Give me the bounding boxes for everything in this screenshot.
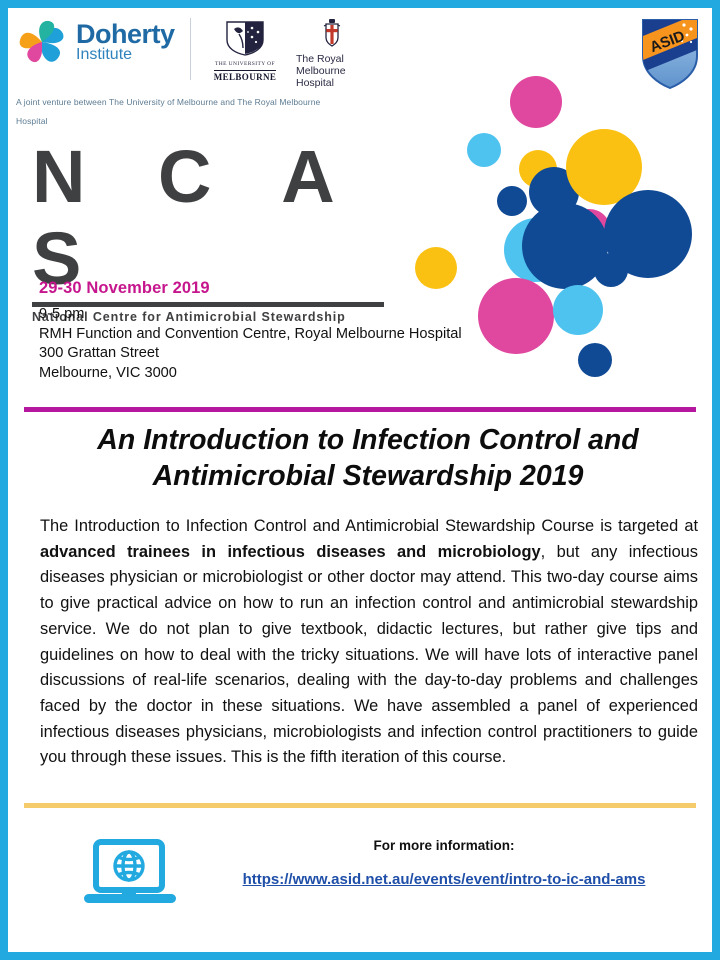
- joint-venture-banner: A joint venture between The University o…: [16, 92, 348, 110]
- laptop-globe-icon: [80, 838, 184, 910]
- doherty-wordmark: Doherty Institute: [76, 21, 175, 63]
- decorative-circle: [553, 285, 603, 335]
- doherty-pinwheel-icon: [16, 16, 68, 68]
- rmh-crest-icon: [317, 35, 347, 52]
- joint-venture-text: A joint venture between The University o…: [16, 97, 320, 126]
- doherty-institute-logo: Doherty Institute: [16, 16, 175, 68]
- event-time: 9-5 pm: [39, 305, 469, 325]
- event-venue: RMH Function and Convention Centre, Roya…: [39, 325, 469, 345]
- more-info-label: For more information:: [204, 838, 684, 853]
- description-bold: advanced trainees in infectious diseases…: [40, 543, 541, 561]
- asid-shield-icon: ASID: [638, 16, 702, 92]
- description-part1: The Introduction to Infection Control an…: [40, 517, 698, 535]
- footer: For more information: https://www.asid.n…: [24, 820, 696, 930]
- unimelb-line2: MELBOURNE: [214, 70, 277, 82]
- event-street: 300 Grattan Street: [39, 344, 469, 364]
- university-of-melbourne-logo: THE UNIVERSITY OF MELBOURNE: [208, 20, 282, 85]
- poster-page: Doherty Institute THE UNIVERSITY OF MELB…: [0, 0, 720, 960]
- decorative-circle: [510, 76, 562, 128]
- header-logo-strip: Doherty Institute THE UNIVERSITY OF MELB…: [8, 8, 712, 96]
- decorative-circle: [497, 186, 527, 216]
- event-date: 29-30 November 2019: [39, 279, 469, 298]
- doherty-line2: Institute: [76, 47, 175, 63]
- more-information-block: For more information: https://www.asid.n…: [204, 838, 684, 889]
- doherty-line1: Doherty: [76, 21, 175, 48]
- decorative-circle: [478, 278, 554, 354]
- unimelb-crest-icon: [221, 43, 269, 60]
- logo-divider: [190, 18, 191, 80]
- event-city: Melbourne, VIC 3000: [39, 364, 469, 384]
- decorative-circle: [415, 247, 457, 289]
- event-url-link[interactable]: https://www.asid.net.au/events/event/int…: [243, 871, 646, 888]
- unimelb-line1: THE UNIVERSITY OF: [208, 61, 282, 67]
- page-title: An Introduction to Infection Control and…: [38, 422, 698, 494]
- ncas-letters: N C A S: [32, 136, 402, 300]
- gold-divider: [24, 803, 696, 808]
- event-location-block: 9-5 pm RMH Function and Convention Centr…: [39, 305, 469, 383]
- description-part2: , but any infectious diseases physician …: [40, 543, 698, 767]
- course-description: The Introduction to Infection Control an…: [40, 514, 698, 771]
- magenta-divider: [24, 407, 696, 412]
- decorative-circle: [467, 133, 501, 167]
- royal-melbourne-hospital-logo: The RoyalMelbourneHospital: [292, 18, 372, 89]
- rmh-label: The RoyalMelbourneHospital: [292, 53, 372, 89]
- asid-logo: ASID: [638, 16, 702, 92]
- event-details: 29-30 November 2019 9-5 pm RMH Function …: [39, 279, 469, 383]
- decorative-circle: [594, 253, 628, 287]
- decorative-circle: [578, 343, 612, 377]
